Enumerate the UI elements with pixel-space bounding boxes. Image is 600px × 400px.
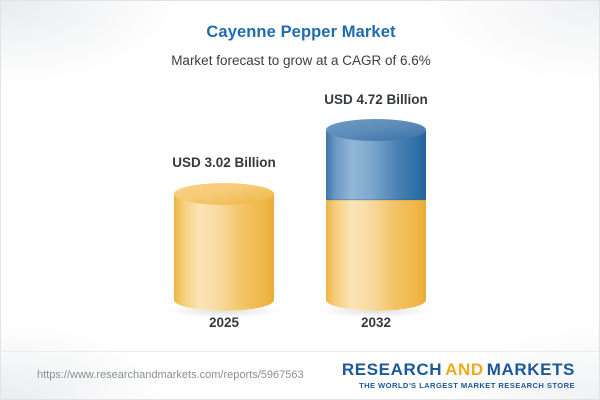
research-and-markets-logo[interactable]: RESEARCHANDMARKETS THE WORLD'S LARGEST M… [342, 360, 575, 390]
footer: https://www.researchandmarkets.com/repor… [1, 351, 599, 399]
cylinder-2025 [174, 183, 274, 315]
category-label-2032: 2032 [266, 315, 486, 330]
logo-word-markets: MARKETS [487, 360, 575, 379]
report-url-link[interactable]: https://www.researchandmarkets.com/repor… [37, 369, 304, 381]
logo-word-research: RESEARCH [342, 360, 442, 379]
logo-word-and: AND [442, 360, 487, 379]
logo-wordmark: RESEARCHANDMARKETS [342, 360, 575, 380]
chart-plot-area: USD 3.02 Billion [1, 1, 600, 353]
cylinder-2032 [326, 119, 426, 315]
data-label-2025: USD 3.02 Billion [114, 155, 334, 170]
chart-screenshot: Cayenne Pepper Market Market forecast to… [0, 0, 600, 400]
data-label-2032: USD 4.72 Billion [266, 92, 486, 107]
logo-tagline: THE WORLD'S LARGEST MARKET RESEARCH STOR… [342, 381, 575, 390]
